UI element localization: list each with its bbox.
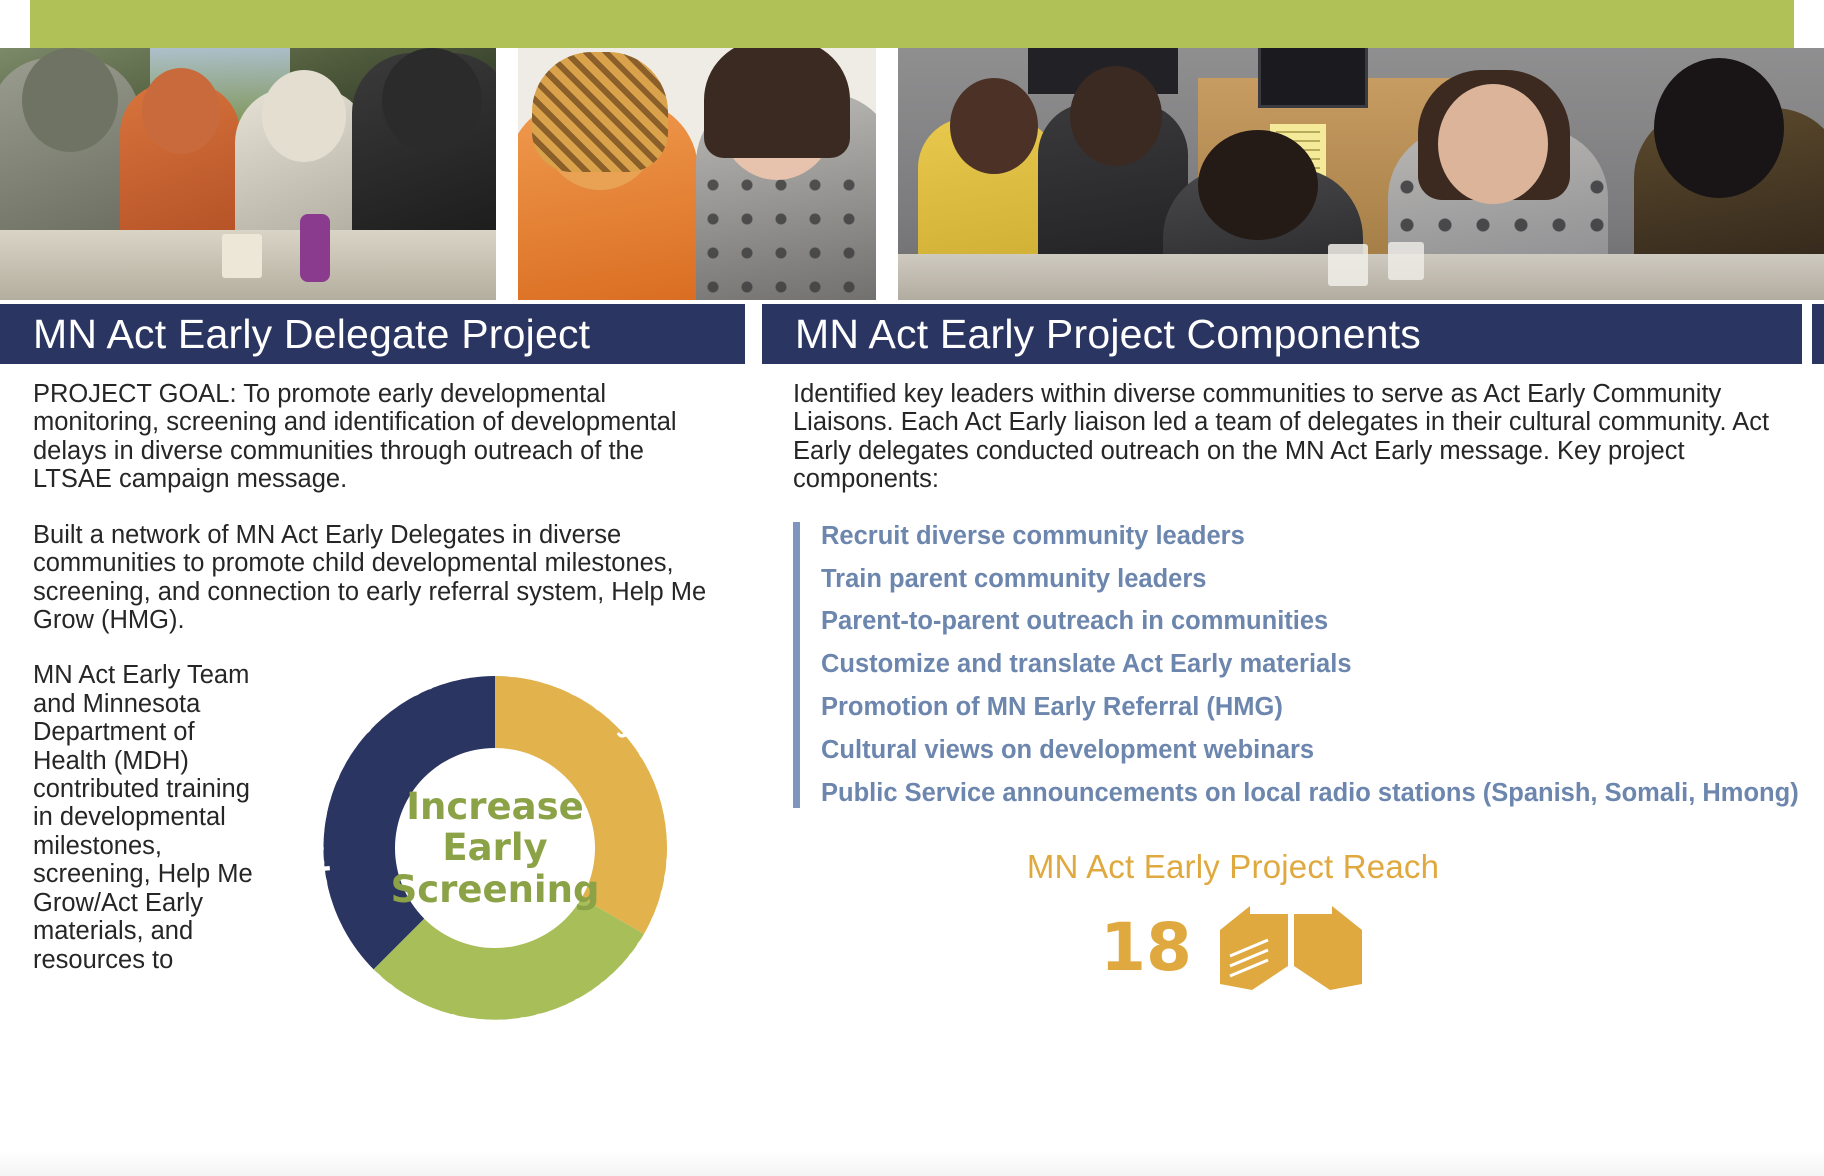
list-item: Customize and translate Act Early materi… <box>821 650 1803 680</box>
page-bottom-fade <box>0 1150 1824 1176</box>
left-section-title: MN Act Early Delegate Project <box>0 314 590 355</box>
right-header-edge-cap <box>1812 304 1824 364</box>
list-item: Parent-to-parent outreach in communities <box>821 607 1803 637</box>
project-components-list: Recruit diverse community leaders Train … <box>793 522 1803 809</box>
list-item: Recruit diverse community leaders <box>821 522 1803 552</box>
right-section-title: MN Act Early Project Components <box>762 314 1421 355</box>
right-column: Identified key leaders within diverse co… <box>793 380 1803 996</box>
list-item: Promotion of MN Early Referral (HMG) <box>821 693 1803 723</box>
project-goal-paragraph: PROJECT GOAL: To promote early developme… <box>33 380 713 494</box>
donut-center-label: Increase Early Screening <box>370 786 620 910</box>
green-band-right-gap <box>1794 0 1824 48</box>
list-item: Cultural views on development webinars <box>821 736 1803 766</box>
open-book-icon <box>1216 900 1366 996</box>
photo-gap-2 <box>876 48 898 300</box>
photo-strip <box>0 48 1824 300</box>
top-green-band <box>0 0 1824 48</box>
increase-early-screening-donut-chart: MN Department of Health University of Mi… <box>281 634 709 1062</box>
photo-two-women-conversation <box>518 48 876 300</box>
photo-gap-1 <box>496 48 518 300</box>
project-reach-number: 18 <box>1100 915 1192 981</box>
list-item: Train parent community leaders <box>821 565 1803 595</box>
list-item: Public Service announcements on local ra… <box>821 779 1803 809</box>
left-section-header: MN Act Early Delegate Project <box>0 304 745 364</box>
green-band-left-gap <box>0 0 30 48</box>
project-reach-figure-row: 18 <box>793 900 1673 996</box>
project-reach-title: MN Act Early Project Reach <box>793 848 1673 886</box>
right-section-header: MN Act Early Project Components <box>762 304 1802 364</box>
project-reach-block: MN Act Early Project Reach 18 <box>793 848 1803 996</box>
photo-meeting-room-participants <box>898 48 1824 300</box>
poster-page: MN Act Early Delegate Project MN Act Ear… <box>0 0 1824 1176</box>
network-paragraph: Built a network of MN Act Early Delegate… <box>33 521 713 635</box>
components-intro-paragraph: Identified key leaders within diverse co… <box>793 380 1803 494</box>
team-contribution-paragraph: MN Act Early Team and Minnesota Departme… <box>33 661 255 974</box>
photo-group-discussion-at-table <box>0 48 496 300</box>
